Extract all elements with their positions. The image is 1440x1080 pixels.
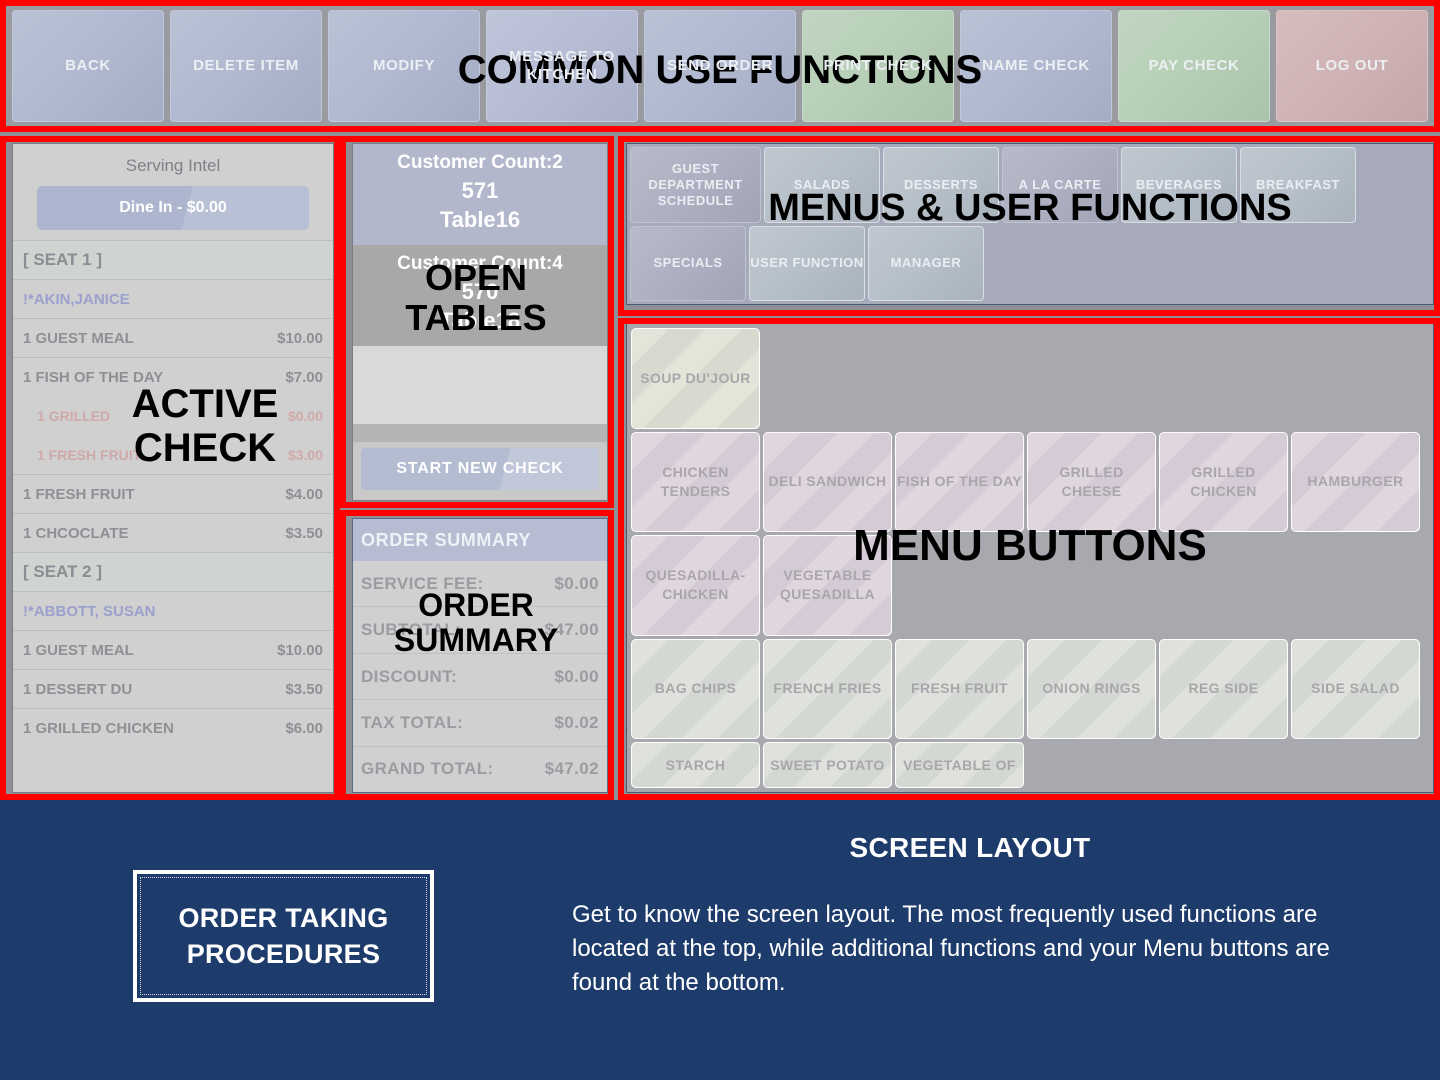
open-table-table: Table16 [353,205,607,235]
menu-button-reg-side[interactable]: REG SIDE [1159,639,1288,740]
menu-button-label: GRILLED CHEESE [1028,463,1155,501]
order-summary-row: GRAND TOTAL:$47.02 [353,747,607,792]
order-type-button[interactable]: Dine In - $0.00 [37,186,309,230]
screen-layout-title: SCREEN LAYOUT [560,832,1380,864]
annotation-order-summary: ORDER SUMMARY [356,588,596,658]
order-summary-row-value: $0.00 [554,667,599,687]
menu-button-label: STARCH [666,756,726,775]
topbar-button-label: PRINT CHECK [823,57,932,75]
menu-button-vegetable-of[interactable]: VEGETABLE OF [895,742,1024,788]
check-row-name: 1 GRILLED CHICKEN [23,720,174,737]
tables-spacer [353,346,607,424]
screen-layout-body: Get to know the screen layout. The most … [572,898,1362,1000]
menu-button-label: SIDE SALAD [1311,679,1400,698]
check-row-price: $10.00 [277,330,323,347]
order-taking-procedures-chip: ORDER TAKING PROCEDURES [133,870,434,1002]
tables-stripe [353,424,607,442]
menu-category-label: BREAKFAST [1256,177,1340,193]
menu-button-starch[interactable]: STARCH [631,742,760,788]
menu-button-label: VEGETABLE OF [903,756,1016,775]
menu-button-label: HAMBURGER [1307,472,1403,491]
menu-button-chicken-tenders[interactable]: CHICKEN TENDERS [631,432,760,533]
order-type-label: Dine In - $0.00 [119,199,227,217]
check-row-name: [ SEAT 1 ] [23,250,102,270]
menu-category-label: SALADS [794,177,850,193]
annotation-open-tables: OPEN TABLES [356,258,596,337]
menu-button-label: QUESADILLA-CHICKEN [632,566,759,604]
topbar-button-label: MODIFY [373,57,435,75]
menu-button-row: STARCHSWEET POTATOVEGETABLE OF [631,742,1429,788]
check-item-row[interactable]: 1 GUEST MEAL$10.00 [13,318,333,357]
check-seat-header[interactable]: [ SEAT 1 ] [13,240,333,279]
topbar-button-label: BACK [65,57,111,75]
start-new-check-button[interactable]: START NEW CHECK [361,448,599,490]
order-summary-row-label: DISCOUNT: [361,667,457,687]
menu-button-label: BAG CHIPS [655,679,736,698]
menu-button-label: REG SIDE [1188,679,1258,698]
check-row-price: $3.50 [285,525,323,542]
menu-category-label: A LA CARTE [1019,177,1102,193]
menu-category-label: GUEST DEPARTMENT SCHEDULE [631,161,760,209]
check-item-row[interactable]: 1 DESSERT DU$3.50 [13,669,333,708]
menu-button-label: FISH OF THE DAY [897,472,1022,491]
menu-button-row: CHICKEN TENDERSDELI SANDWICHFISH OF THE … [631,432,1429,533]
menu-button-label: SOUP DU'JOUR [640,369,751,388]
annotation-active-check: ACTIVE CHECK [60,382,350,470]
menu-button-fish-of-the-day[interactable]: FISH OF THE DAY [895,432,1024,533]
topbar-button-label: MESSAGE TO KITCHEN [487,48,637,85]
topbar-button-pay-check[interactable]: PAY CHECK [1118,10,1270,122]
menu-category-manager[interactable]: MANAGER [868,226,984,302]
menu-row-filler [987,226,1430,302]
menu-category-row-2: SPECIALSUSER FUNCTIONMANAGER [630,226,1430,302]
check-row-price: $10.00 [277,642,323,659]
common-use-functions-bar: BACKDELETE ITEMMODIFYMESSAGE TO KITCHENS… [6,6,1434,126]
topbar-button-print-check[interactable]: PRINT CHECK [802,10,954,122]
menu-button-label: FRESH FRUIT [911,679,1008,698]
menu-button-label: FRENCH FRIES [773,679,881,698]
check-row-name: 1 FRESH FRUIT [23,486,135,503]
menu-category-specials[interactable]: SPECIALS [630,226,746,302]
menu-button-label: SWEET POTATO [770,756,884,775]
order-summary-title: ORDER SUMMARY [353,519,607,561]
menu-button-row: SOUP DU'JOUR [631,328,1429,429]
order-summary-row-value: $47.02 [545,759,599,779]
check-item-row[interactable]: 1 FRESH FRUIT$4.00 [13,474,333,513]
open-table-number: 571 [353,176,607,206]
check-row-price: $6.00 [285,720,323,737]
topbar-button-label: DELETE ITEM [193,57,299,75]
menu-button-sweet-potato[interactable]: SWEET POTATO [763,742,892,788]
order-summary-row: DISCOUNT:$0.00 [353,654,607,700]
annotation-menu-buttons: MENU BUTTONS [640,522,1420,570]
check-item-row[interactable]: 1 GUEST MEAL$10.00 [13,630,333,669]
topbar-button-log-out[interactable]: LOG OUT [1276,10,1428,122]
menu-category-label: SPECIALS [653,255,722,271]
check-guest-name[interactable]: !*ABBOTT, SUSAN [13,591,333,630]
menu-button-row: BAG CHIPSFRENCH FRIESFRESH FRUITONION RI… [631,639,1429,740]
menu-category-label: MANAGER [891,255,962,271]
check-header-title: Serving Intel [13,144,333,184]
check-row-price: $3.50 [285,681,323,698]
menu-button-bag-chips[interactable]: BAG CHIPS [631,639,760,740]
check-guest-name[interactable]: !*AKIN,JANICE [13,279,333,318]
topbar-button-back[interactable]: BACK [12,10,164,122]
open-table-customer-count: Customer Count:2 [353,150,607,176]
menu-button-fresh-fruit[interactable]: FRESH FRUIT [895,639,1024,740]
topbar-button-name-check[interactable]: NAME CHECK [960,10,1112,122]
menu-button-soup-du-jour[interactable]: SOUP DU'JOUR [631,328,760,429]
menu-button-grilled-chicken[interactable]: GRILLED CHICKEN [1159,432,1288,533]
menu-button-label: DELI SANDWICH [769,472,887,491]
topbar-button-label: PAY CHECK [1149,57,1240,75]
menu-button-onion-rings[interactable]: ONION RINGS [1027,639,1156,740]
menu-button-grilled-cheese[interactable]: GRILLED CHEESE [1027,432,1156,533]
menu-button-hamburger[interactable]: HAMBURGER [1291,432,1420,533]
check-row-name: 1 GUEST MEAL [23,642,134,659]
check-row-name: !*AKIN,JANICE [23,291,130,308]
menu-category-label: BEVERAGES [1136,177,1222,193]
check-seat-header[interactable]: [ SEAT 2 ] [13,552,333,591]
topbar-button-label: LOG OUT [1316,57,1389,75]
check-item-row[interactable]: 1 CHCOCLATE$3.50 [13,513,333,552]
open-table-card[interactable]: Customer Count:2571Table16 [353,144,607,245]
check-row-name: !*ABBOTT, SUSAN [23,603,156,620]
menu-button-label: CHICKEN TENDERS [632,463,759,501]
order-taking-procedures-label: ORDER TAKING PROCEDURES [178,900,388,973]
menu-category-label: DESSERTS [904,177,978,193]
menu-button-label: VEGETABLE QUESADILLA [764,566,891,604]
menu-category-label: USER FUNCTION [750,255,863,271]
order-summary-row-label: TAX TOTAL: [361,713,463,733]
check-row-name: [ SEAT 2 ] [23,562,102,582]
topbar-button-label: SEND ORDER [667,57,773,75]
menu-button-side-salad[interactable]: SIDE SALAD [1291,639,1420,740]
start-new-check-label: START NEW CHECK [396,460,563,478]
check-item-row[interactable]: 1 GRILLED CHICKEN$6.00 [13,708,333,747]
order-summary-row-label: GRAND TOTAL: [361,759,494,779]
check-row-name: 1 DESSERT DU [23,681,132,698]
menu-button-label: ONION RINGS [1042,679,1141,698]
check-row-name: 1 GUEST MEAL [23,330,134,347]
check-row-name: 1 CHCOCLATE [23,525,129,542]
topbar-button-delete-item[interactable]: DELETE ITEM [170,10,322,122]
order-summary-row: TAX TOTAL:$0.02 [353,700,607,746]
menu-button-deli-sandwich[interactable]: DELI SANDWICH [763,432,892,533]
menu-button-label: GRILLED CHICKEN [1160,463,1287,501]
order-summary-row-value: $0.02 [554,713,599,733]
topbar-button-label: NAME CHECK [982,57,1090,75]
menu-button-french-fries[interactable]: FRENCH FRIES [763,639,892,740]
menu-category-user-function[interactable]: USER FUNCTION [749,226,865,302]
check-line-items: [ SEAT 1 ]!*AKIN,JANICE1 GUEST MEAL$10.0… [13,240,333,747]
check-row-price: $4.00 [285,486,323,503]
topbar-button-message-to-kitchen[interactable]: MESSAGE TO KITCHEN [486,10,638,122]
